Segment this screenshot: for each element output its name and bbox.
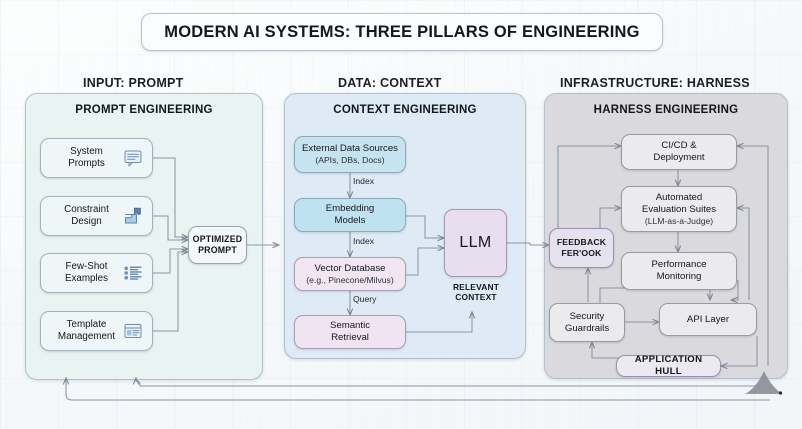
panel-title-context: CONTEXT ENGINEERING [285,104,525,116]
node-external-data-sources[interactable]: External Data Sources (APIs, DBs, Docs) [294,136,406,173]
template-window-icon [122,320,144,342]
panel-title-prompt: PROMPT ENGINEERING [26,104,262,116]
relevant-context-caption: RELEVANTCONTEXT [440,282,512,302]
node-few-shot-examples[interactable]: Few-ShotExamples [40,253,153,293]
edge-label-query: Query [353,294,376,304]
column-caption-infrastructure: INFRASTRUCTURE: HARNESS [560,76,750,90]
corner-logo-triangle [744,370,784,396]
node-application-hull-label: APPLICATION HULL [617,354,720,378]
node-embedding-models[interactable]: EmbeddingModels [294,198,406,232]
node-external-data-sources-label: External Data Sources (APIs, DBs, Docs) [298,143,402,165]
node-automated-evaluation-suites[interactable]: AutomatedEvaluation Suites (LLM-as-a-Jud… [621,186,737,232]
speech-bubble-icon [122,147,144,169]
node-template-management[interactable]: TemplateManagement [40,311,153,351]
node-cicd-deployment-label: CI/CD &Deployment [649,140,708,164]
node-automated-evaluation-suites-label: AutomatedEvaluation Suites (LLM-as-a-Jud… [638,192,720,226]
node-llm-label: LLM [455,233,495,253]
column-caption-input: INPUT: PROMPT [83,76,183,90]
diagram-title: MODERN AI SYSTEMS: THREE PILLARS OF ENGI… [141,13,663,51]
node-optimized-prompt-label: OPTIMIZEDPROMPT [189,234,247,256]
bullet-list-icon [122,262,144,284]
node-performance-monitoring-label: PerformanceMonitoring [648,259,711,283]
node-api-layer-label: API Layer [683,314,733,326]
node-performance-monitoring[interactable]: PerformanceMonitoring [621,252,737,290]
panel-title-harness: HARNESS ENGINEERING [545,104,787,116]
node-application-hull[interactable]: APPLICATION HULL [616,355,721,377]
node-security-guardrails[interactable]: SecurityGuardrails [549,303,625,342]
edge-label-index-1: Index [353,176,374,186]
column-caption-data: DATA: CONTEXT [338,76,441,90]
diagram-title-text: MODERN AI SYSTEMS: THREE PILLARS OF ENGI… [164,23,639,42]
node-feedback-loop-label: FEEDBACKFER'OOK [553,237,610,258]
node-system-prompts[interactable]: SystemPrompts [40,138,153,178]
node-semantic-retrieval[interactable]: SemanticRetrieval [294,315,406,349]
node-security-guardrails-label: SecurityGuardrails [561,311,613,335]
node-feedback-loop[interactable]: FEEDBACKFER'OOK [549,228,614,268]
node-api-layer[interactable]: API Layer [659,303,757,336]
diagram-canvas: MODERN AI SYSTEMS: THREE PILLARS OF ENGI… [0,0,802,429]
node-llm[interactable]: LLM [444,209,507,277]
node-optimized-prompt[interactable]: OPTIMIZEDPROMPT [188,226,247,264]
node-constraint-design[interactable]: ConstraintDesign [40,196,153,236]
node-cicd-deployment[interactable]: CI/CD &Deployment [621,134,737,170]
node-embedding-models-label: EmbeddingModels [322,203,379,227]
puzzle-icon [122,205,144,227]
node-vector-database[interactable]: Vector Database (e.g., Pinecone/Milvus) [294,257,406,291]
node-system-prompts-label: SystemPrompts [64,146,128,170]
node-semantic-retrieval-label: SemanticRetrieval [326,320,374,344]
edge-label-index-2: Index [353,236,374,246]
node-vector-database-label: Vector Database (e.g., Pinecone/Milvus) [302,263,397,285]
